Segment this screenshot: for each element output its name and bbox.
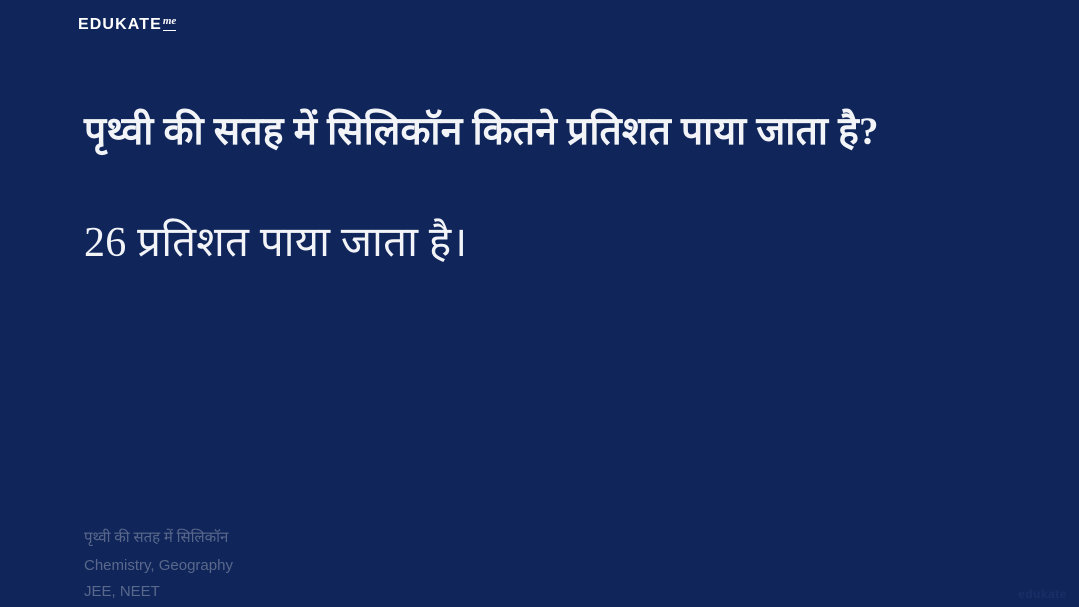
logo-wordmark: EDUKATE [78,17,162,33]
footer-exams: JEE, NEET [84,580,233,603]
question-text: पृथ्वी की सतह में सिलिकॉन कितने प्रतिशत … [84,104,944,159]
slide-content: पृथ्वी की सतह में सिलिकॉन कितने प्रतिशत … [84,104,944,272]
slide-canvas: EDUKATE me पृथ्वी की सतह में सिलिकॉन कित… [0,0,1079,607]
answer-text: 26 प्रतिशत पाया जाता है। [84,215,944,272]
footer-subjects: Chemistry, Geography [84,554,233,577]
slide-footer: पृथ्वी की सतह में सिलिकॉन Chemistry, Geo… [84,527,233,603]
footer-topic: पृथ्वी की सतह में सिलिकॉन [84,527,233,550]
logo-superscript: me [163,16,176,31]
edukate-logo[interactable]: EDUKATE me [78,17,176,33]
corner-watermark: edukate [1018,587,1067,601]
